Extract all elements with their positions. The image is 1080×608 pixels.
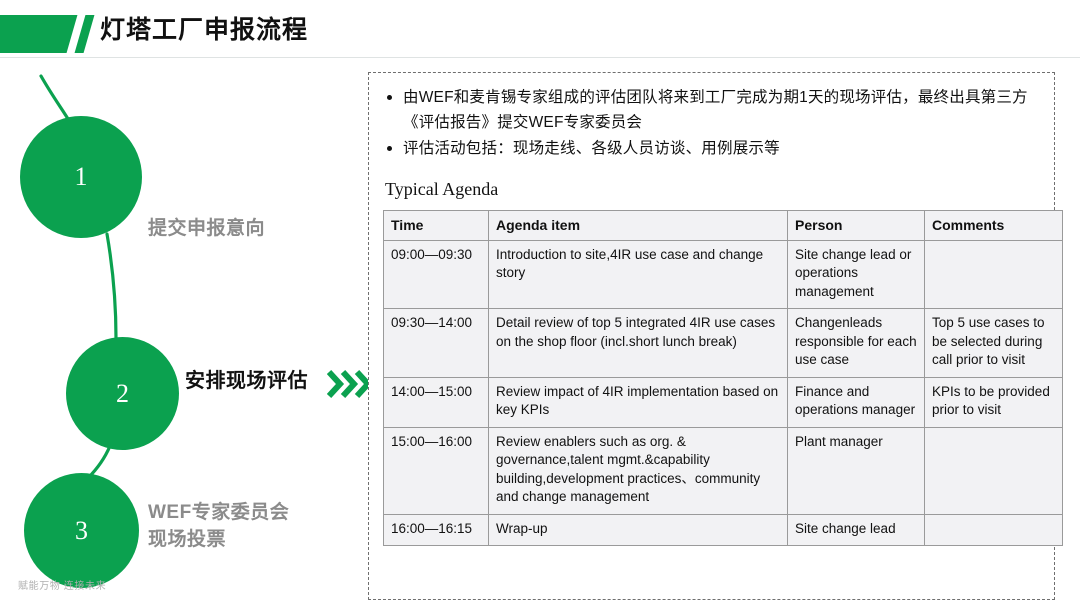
column-header-comments: Comments <box>925 211 1063 241</box>
cell-comments: KPIs to be provided prior to visit <box>925 377 1063 427</box>
cell-agenda: Review impact of 4IR implementation base… <box>489 377 788 427</box>
header-accent-parallelogram <box>0 15 77 53</box>
cell-time: 14:00—15:00 <box>384 377 489 427</box>
column-header-time: Time <box>384 211 489 241</box>
agenda-table: Time Agenda item Person Comments 09:00—0… <box>383 210 1063 546</box>
cell-agenda: Detail review of top 5 integrated 4IR us… <box>489 309 788 378</box>
cell-comments <box>925 240 1063 309</box>
step-number-3: 3 <box>75 516 88 546</box>
table-row: 09:00—09:30 Introduction to site,4IR use… <box>384 240 1063 309</box>
table-row: 09:30—14:00 Detail review of top 5 integ… <box>384 309 1063 378</box>
step-label-2: 安排现场评估 <box>185 368 308 395</box>
cell-person: Site change lead <box>788 514 925 546</box>
cell-time: 09:00—09:30 <box>384 240 489 309</box>
bullet-list: 由WEF和麦肯锡专家组成的评估团队将来到工厂完成为期1天的现场评估，最终出具第三… <box>385 85 1044 161</box>
step-label-1: 提交申报意向 <box>148 215 265 242</box>
step-circle-2[interactable]: 2 <box>66 337 179 450</box>
cell-person: Finance and operations manager <box>788 377 925 427</box>
cell-comments: Top 5 use cases to be selected during ca… <box>925 309 1063 378</box>
slide-root: 灯塔工厂申报流程 1 提交申报意向 2 安排现场评估 3 WEF专家委员会 <box>0 0 1080 608</box>
cell-agenda: Review enablers such as org. & governanc… <box>489 427 788 514</box>
header-accent-slash <box>75 15 95 53</box>
slide-header: 灯塔工厂申报流程 <box>0 0 1080 58</box>
cell-comments <box>925 427 1063 514</box>
step-circle-3[interactable]: 3 <box>24 473 139 588</box>
column-header-agenda: Agenda item <box>489 211 788 241</box>
table-row: 15:00—16:00 Review enablers such as org.… <box>384 427 1063 514</box>
cell-person: Plant manager <box>788 427 925 514</box>
cell-person: Changenleads responsible for each use ca… <box>788 309 925 378</box>
footer-tagline: 赋能万物 连接未来 <box>18 577 106 592</box>
cell-agenda: Wrap-up <box>489 514 788 546</box>
step-label-3-line2: 现场投票 <box>148 526 348 553</box>
cell-time: 15:00—16:00 <box>384 427 489 514</box>
column-header-person: Person <box>788 211 925 241</box>
content-panel: 由WEF和麦肯锡专家组成的评估团队将来到工厂完成为期1天的现场评估，最终出具第三… <box>368 72 1055 600</box>
cell-comments <box>925 514 1063 546</box>
table-header-row: Time Agenda item Person Comments <box>384 211 1063 241</box>
step-circle-1[interactable]: 1 <box>20 116 142 238</box>
table-row: 14:00—15:00 Review impact of 4IR impleme… <box>384 377 1063 427</box>
bullet-item: 由WEF和麦肯锡专家组成的评估团队将来到工厂完成为期1天的现场评估，最终出具第三… <box>385 85 1044 135</box>
bullet-item: 评估活动包括：现场走线、各级人员访谈、用例展示等 <box>385 136 1044 161</box>
cell-agenda: Introduction to site,4IR use case and ch… <box>489 240 788 309</box>
step-label-3: WEF专家委员会 现场投票 <box>148 499 348 553</box>
cell-person: Site change lead or operations managemen… <box>788 240 925 309</box>
page-title: 灯塔工厂申报流程 <box>100 14 308 46</box>
step-number-1: 1 <box>75 162 88 192</box>
agenda-heading: Typical Agenda <box>385 179 1044 200</box>
step-label-3-line1: WEF专家委员会 <box>148 499 348 526</box>
cell-time: 16:00—16:15 <box>384 514 489 546</box>
cell-time: 09:30—14:00 <box>384 309 489 378</box>
step-number-2: 2 <box>116 379 129 409</box>
process-flow: 1 提交申报意向 2 安排现场评估 3 WEF专家委员会 现场投票 <box>0 58 365 558</box>
table-row: 16:00—16:15 Wrap-up Site change lead <box>384 514 1063 546</box>
